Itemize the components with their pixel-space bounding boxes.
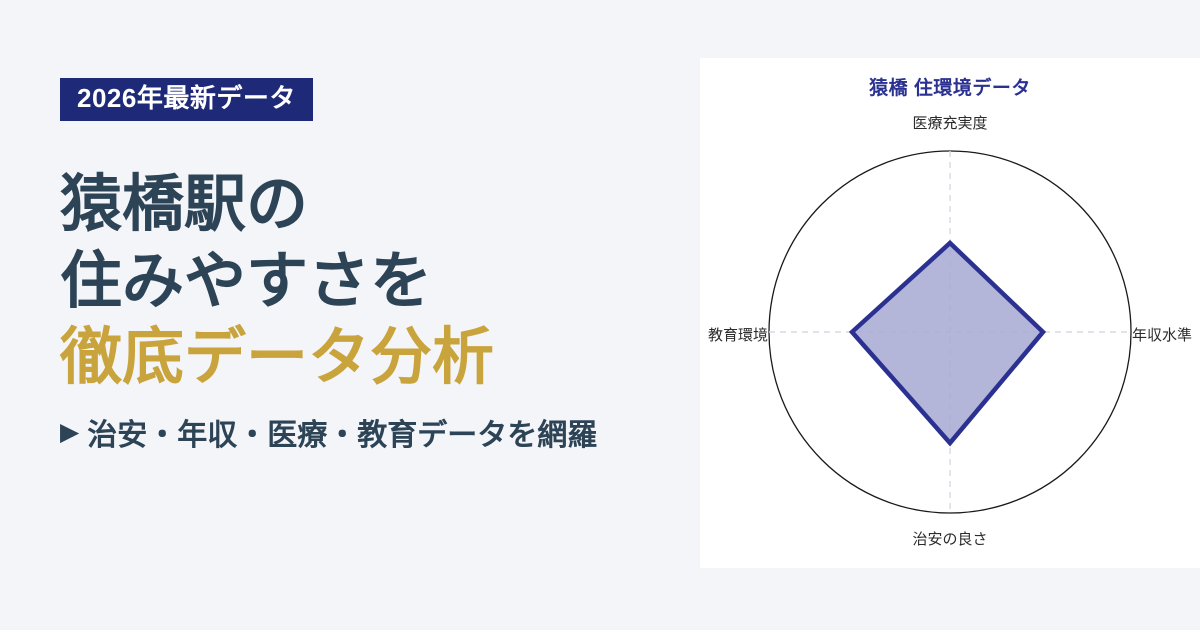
radar-axis-label-education: 教育環境	[708, 324, 768, 345]
new-data-badge: 2026年最新データ	[60, 78, 313, 121]
radar-chart-svg	[700, 58, 1200, 568]
radar-axis-label-safety: 治安の良さ	[700, 528, 1200, 549]
subtitle: ▶ 治安・年収・医療・教育データを網羅	[60, 410, 700, 454]
hero-text-column: 2026年最新データ 猿橋駅の 住みやすさを 徹底データ分析 ▶ 治安・年収・医…	[0, 0, 700, 630]
headline-line-1: 猿橋駅の	[60, 167, 700, 243]
headline-line-3-accent: 徹底データ分析	[60, 320, 700, 396]
play-triangle-icon: ▶	[60, 420, 79, 445]
subtitle-text: 治安・年収・医療・教育データを網羅	[87, 410, 597, 454]
headline-line-2: 住みやすさを	[60, 244, 700, 320]
radar-data-polygon	[852, 243, 1043, 443]
radar-chart-panel: 猿橋 住環境データ 医療充実度 年収水準 治安の良さ 教育環境	[700, 58, 1200, 568]
page-title: 猿橋駅の 住みやすさを 徹底データ分析	[60, 167, 700, 396]
radar-axis-label-medical: 医療充実度	[700, 112, 1200, 133]
radar-axis-label-income: 年収水準	[1132, 324, 1192, 345]
